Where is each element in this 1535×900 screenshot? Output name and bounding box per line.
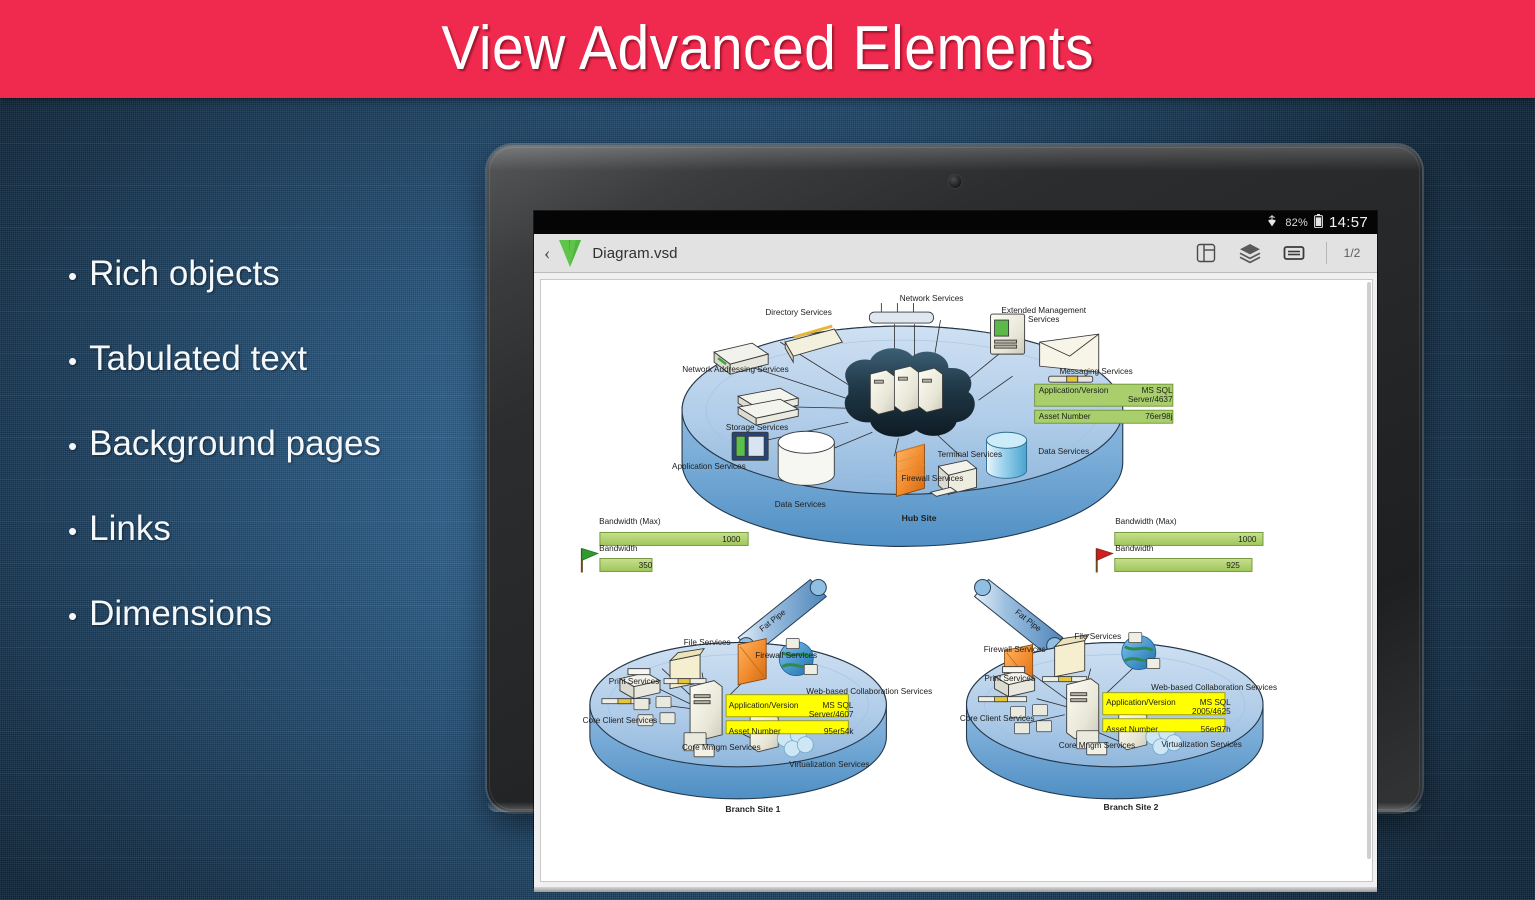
branch1-node-core-server [690,681,722,741]
battery-icon [1314,214,1323,231]
battery-percent-label: 82% [1285,217,1308,229]
branch2-node-web-collaboration [1122,633,1160,670]
node-network-services [869,303,933,323]
branch1-data-table [726,695,848,734]
list-item: • Tabulated text [68,341,498,379]
branch1-dimension-line-1 [664,679,706,684]
node-firewall-services-hub [896,444,924,496]
bullet-label: Links [89,511,171,547]
list-item: • Links [68,511,498,549]
device-top-rim [487,145,1422,171]
bullet-label: Rich objects [89,256,280,292]
screen-bottom-edge [534,887,1377,892]
branch1-node-firewall-services [738,639,766,685]
branch1-node-web-collaboration [779,639,817,676]
diagram-canvas[interactable]: Fat Pipe Fat Pipe Network Services Direc… [540,279,1373,882]
tablet-device: 82% 14:57 ‹ [487,145,1422,812]
wifi-icon [1265,215,1279,230]
bullet-marker-icon: • [68,428,77,464]
back-chevron-icon[interactable]: ‹ [540,244,554,263]
app-toolbar: ‹ Diagram.vsd [534,234,1377,273]
node-data-services-hub [778,431,834,485]
node-extended-management-services [991,314,1025,354]
branch2-dimension-line-2 [979,697,1027,702]
page-title: View Advanced Elements [441,18,1094,80]
branch2-node-core-server [1067,679,1099,739]
front-camera-icon [948,175,961,188]
branch2-data-table [1103,693,1225,732]
bullet-marker-icon: • [68,598,77,634]
page-indicator[interactable]: 1/2 [1335,246,1369,260]
node-data-services-blue [987,432,1027,478]
bullet-label: Tabulated text [89,341,307,377]
android-status-bar: 82% 14:57 [534,211,1377,234]
node-application-services [732,432,768,460]
slide-canvas: View Advanced Elements • Rich objects • … [0,0,1535,900]
bullet-marker-icon: • [68,343,77,379]
slide-banner: View Advanced Elements [0,0,1535,98]
list-item: • Background pages [68,426,498,464]
bullet-label: Dimensions [89,596,272,632]
green-flag-icon [582,548,598,572]
feature-bullet-list: • Rich objects • Tabulated text • Backgr… [68,256,498,681]
visio-viewer-logo-icon [556,238,584,268]
list-item: • Rich objects [68,256,498,294]
diagram-canvas-area[interactable]: Fat Pipe Fat Pipe Network Services Direc… [534,273,1377,887]
branch2-node-file-services [1055,635,1089,677]
bullet-marker-icon: • [68,258,77,294]
bandwidth-callout-left [582,532,748,572]
toolbar-divider [1326,242,1327,264]
document-title: Diagram.vsd [592,245,1184,262]
status-bar-clock: 14:57 [1329,214,1368,231]
bullet-marker-icon: • [68,513,77,549]
network-diagram: Fat Pipe Fat Pipe [541,280,1372,881]
layers-button[interactable] [1237,240,1263,266]
red-flag-icon [1097,548,1113,572]
page-layout-button[interactable] [1193,240,1219,266]
hub-data-table [1035,384,1173,423]
list-item: • Dimensions [68,596,498,634]
bullet-label: Background pages [89,426,381,462]
bandwidth-callout-right [1097,532,1263,572]
list-view-button[interactable] [1281,240,1307,266]
device-screen: 82% 14:57 ‹ [534,211,1377,887]
